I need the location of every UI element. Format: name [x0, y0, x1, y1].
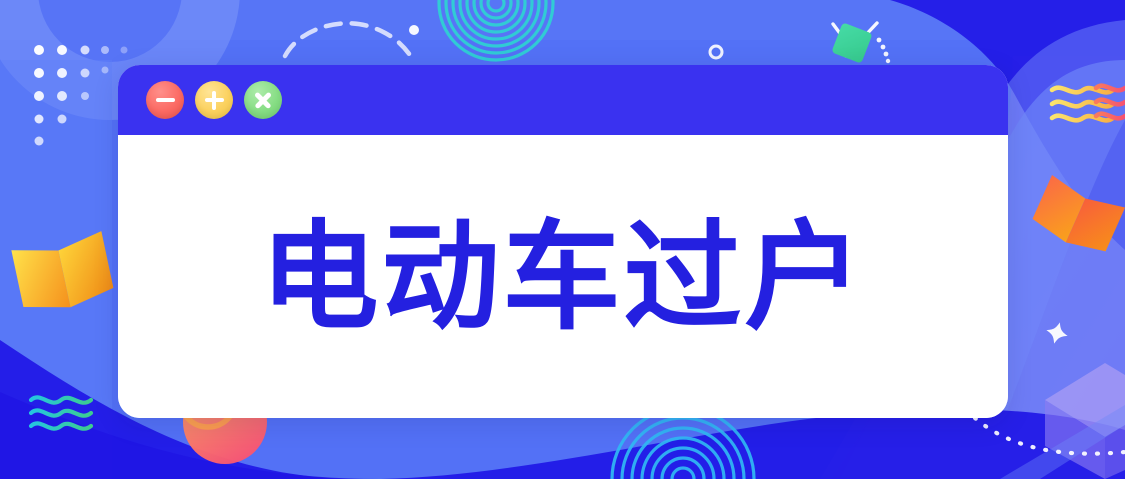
plus-icon [195, 81, 233, 119]
poster-canvas: 电动车过户 [0, 0, 1125, 479]
minimize-button[interactable] [146, 81, 184, 119]
maximize-button[interactable] [195, 81, 233, 119]
close-button[interactable] [244, 81, 282, 119]
window-card: 电动车过户 [118, 65, 1008, 418]
window-title-bar [118, 65, 1008, 135]
close-icon [244, 81, 282, 119]
minus-icon [146, 81, 184, 119]
window-body: 电动车过户 [118, 135, 1008, 418]
page-title: 电动车过户 [260, 218, 865, 336]
